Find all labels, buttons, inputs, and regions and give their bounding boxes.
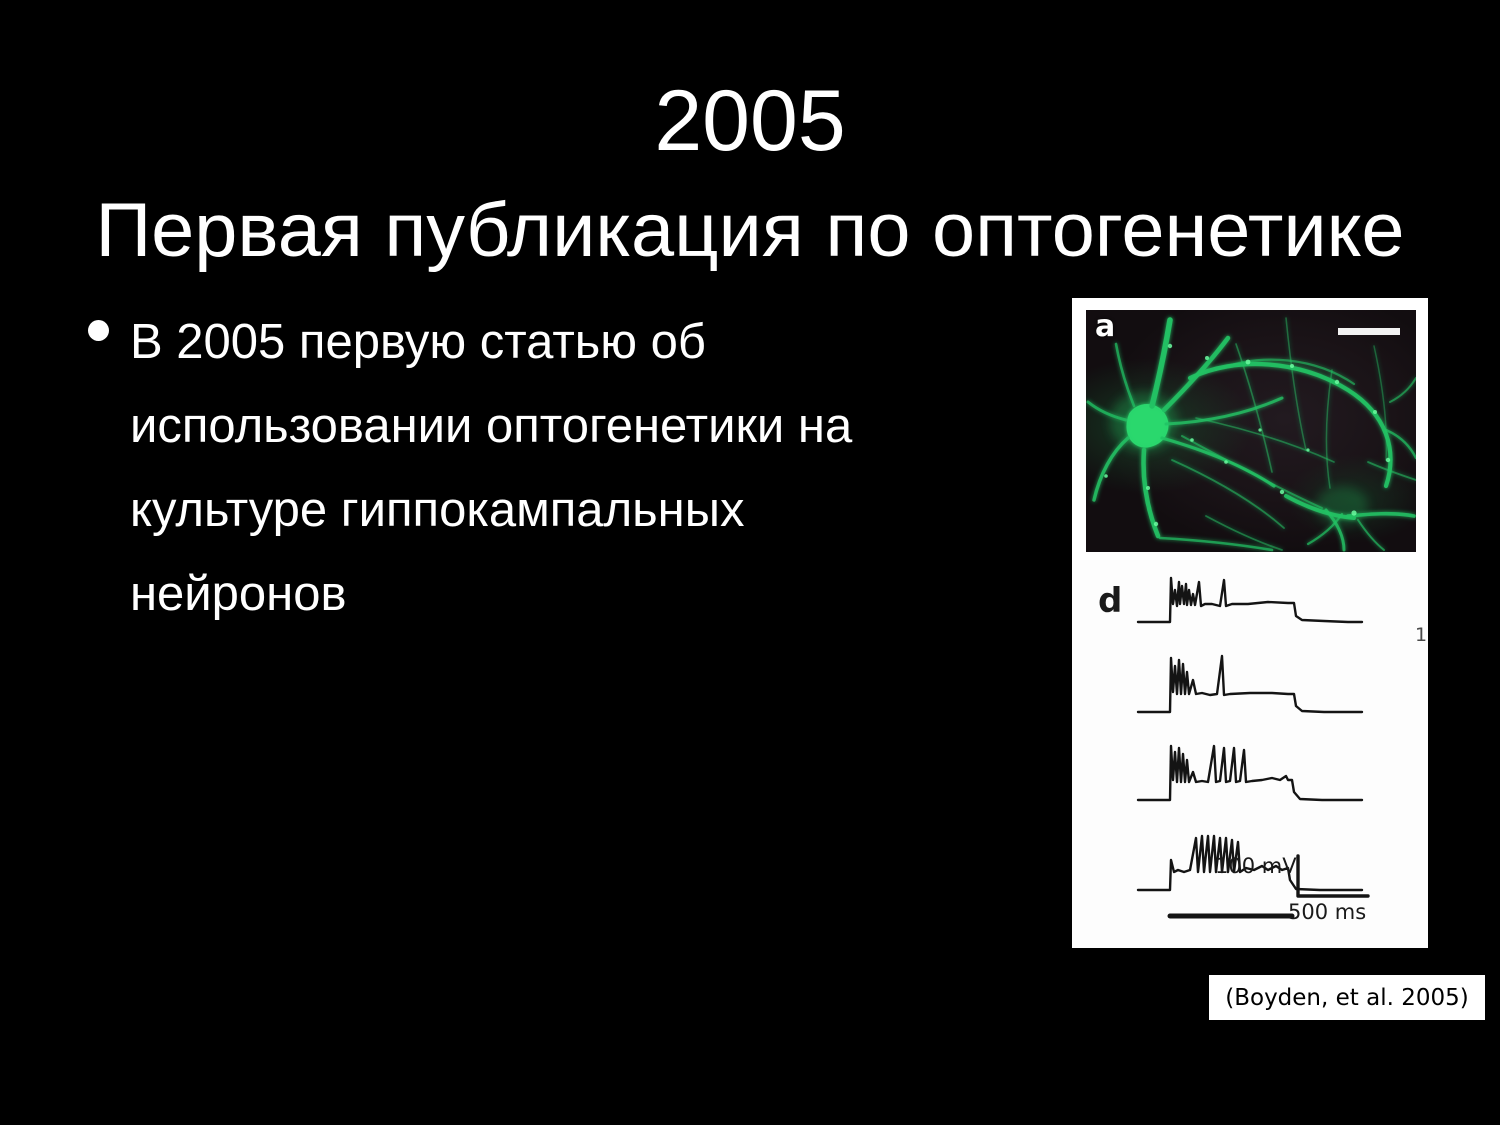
cut-off-trace-label: 1 <box>1415 624 1426 646</box>
scale-bar-icon <box>1338 328 1400 335</box>
citation-box: (Boyden, et al. 2005) <box>1209 975 1485 1020</box>
figure-panel-d: d 1 100 mV 500 ms <box>1072 560 1428 948</box>
bullet-line: нейронов <box>130 552 1058 636</box>
bullet-line: В 2005 первую статью об <box>130 300 1058 384</box>
figure-panel: a <box>1072 298 1428 948</box>
time-scale-label: 500 ms <box>1288 900 1366 924</box>
bullet-text-block: В 2005 первую статью об использовании оп… <box>130 300 1058 636</box>
bullet-line: использовании оптогенетики на <box>130 384 1058 468</box>
panel-d-label: d <box>1098 584 1122 618</box>
figure-panel-a: a <box>1086 310 1416 552</box>
slide-root: 2005 Первая публикация по оптогенетике В… <box>0 0 1500 1125</box>
citation-text: (Boyden, et al. 2005) <box>1225 985 1468 1011</box>
voltage-scale-label: 100 mV <box>1215 854 1297 878</box>
list-item: В 2005 первую статью об использовании оп… <box>78 300 1058 636</box>
bullet-line: культуре гиппокампальных <box>130 468 1058 552</box>
slide-subtitle: Первая публикация по оптогенетике <box>0 193 1500 269</box>
bullet-dot-icon <box>88 320 109 341</box>
neuron-micrograph-graphic <box>1086 310 1416 552</box>
panel-a-label: a <box>1095 312 1115 342</box>
body-content: В 2005 первую статью об использовании оп… <box>78 300 1058 636</box>
ephys-traces-graphic <box>1072 560 1428 948</box>
page-title: 2005 <box>0 78 1500 164</box>
